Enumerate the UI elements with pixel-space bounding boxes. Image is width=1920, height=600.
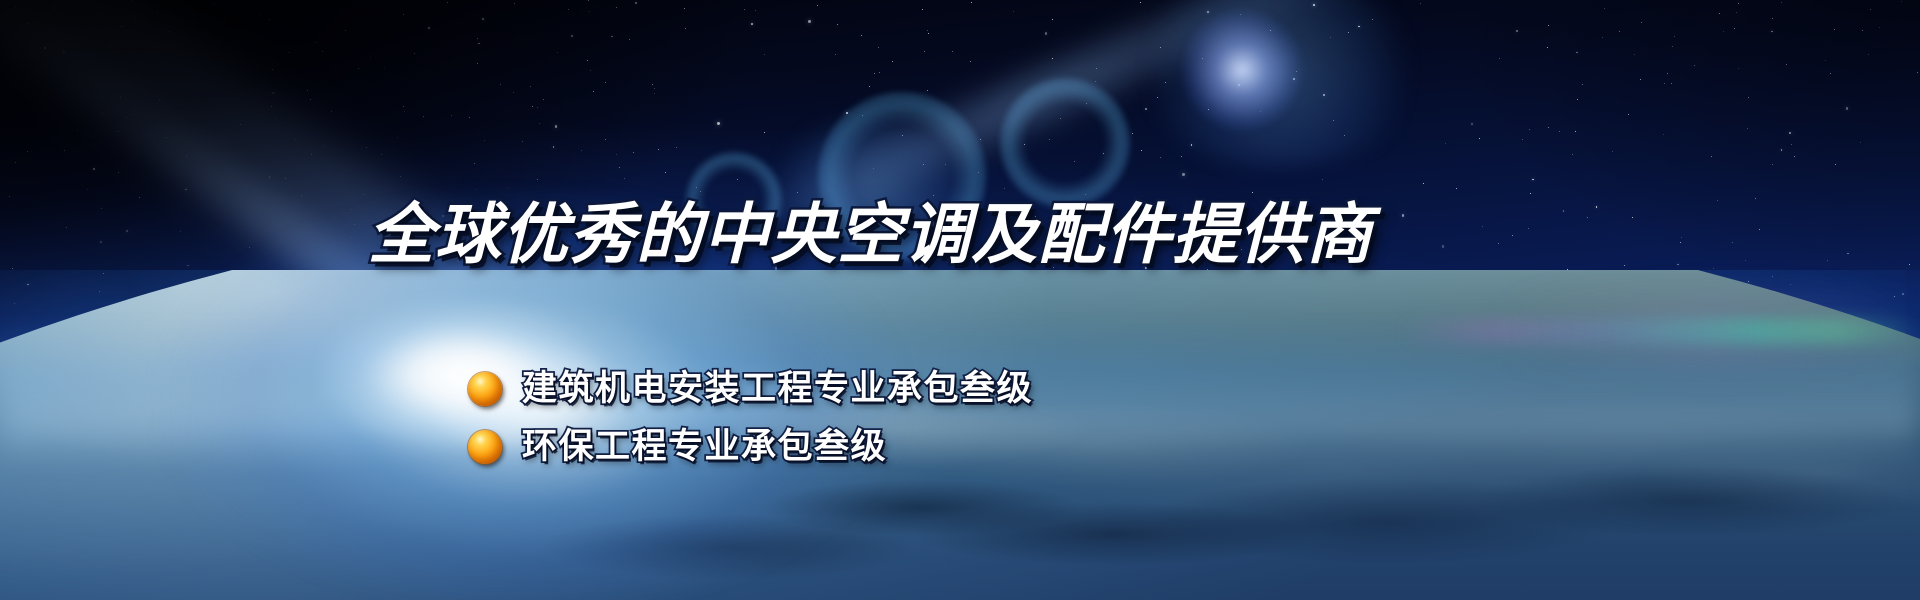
banner-feature-list: 建筑机电安装工程专业承包叁级 环保工程专业承包叁级 [468, 363, 1033, 479]
list-item: 建筑机电安装工程专业承包叁级 [468, 363, 1033, 415]
list-item-label: 建筑机电安装工程专业承包叁级 [522, 372, 1033, 407]
hero-banner: 全球优秀的中央空调及配件提供商 建筑机电安装工程专业承包叁级 环保工程专业承包叁… [0, 0, 1920, 600]
list-item: 环保工程专业承包叁级 [468, 421, 1033, 473]
list-item-label: 环保工程专业承包叁级 [522, 430, 887, 465]
banner-content: 全球优秀的中央空调及配件提供商 建筑机电安装工程专业承包叁级 环保工程专业承包叁… [0, 0, 1920, 600]
banner-headline: 全球优秀的中央空调及配件提供商 [368, 202, 1373, 268]
orange-bullet-icon [468, 430, 502, 464]
orange-bullet-icon [468, 372, 502, 406]
